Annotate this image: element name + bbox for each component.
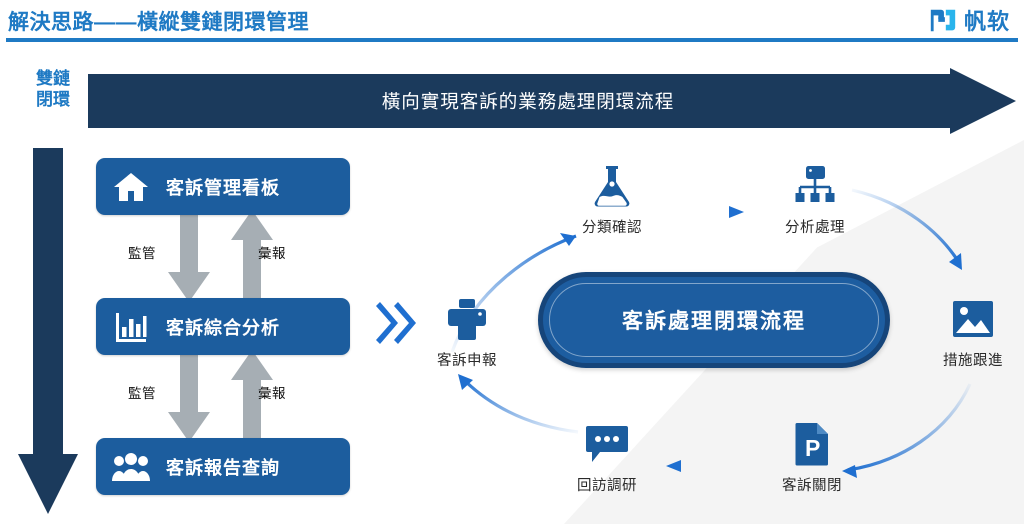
hierarchy-icon xyxy=(760,160,870,212)
chat-bubble-icon xyxy=(552,418,662,470)
platform-card-label: 客訴報告查詢 xyxy=(166,454,280,480)
flask-icon xyxy=(557,160,667,212)
horizontal-banner-arrow: 橫向實現客訴的業務處理閉環流程 xyxy=(88,68,1016,134)
cycle-arrow-5 xyxy=(666,460,752,472)
platform-card-report-query[interactable]: 客訴報告查詢 xyxy=(96,438,350,495)
svg-text:P: P xyxy=(805,435,820,461)
platform-card-analysis[interactable]: 客訴綜合分析 xyxy=(96,298,350,355)
cycle-node-followup-survey[interactable]: 回訪調研 xyxy=(552,418,662,495)
image-icon xyxy=(918,293,1024,345)
platform-card-label: 客訴綜合分析 xyxy=(166,314,280,340)
people-icon-shape xyxy=(111,452,151,482)
image-icon-shape xyxy=(951,300,995,338)
cycle-node-classify-confirm[interactable]: 分類確認 xyxy=(557,160,667,237)
cycle-node-label: 客訴申報 xyxy=(412,349,522,370)
document-p-icon-shape: P xyxy=(794,422,830,466)
flask-icon-shape xyxy=(593,164,631,208)
slide-canvas: 解決思路——橫縱雙鏈閉環管理 帆软 雙鏈 閉環 縱向搭建客訴的綜合管理平臺 橫向… xyxy=(0,0,1024,524)
cycle-hub: 客訴處理閉環流程 xyxy=(538,272,890,368)
horizontal-banner-label: 橫向實現客訴的業務處理閉環流程 xyxy=(88,68,968,134)
cycle-node-label: 回訪調研 xyxy=(552,474,662,495)
printer-icon xyxy=(412,293,522,345)
cycle-node-label: 分類確認 xyxy=(557,216,667,237)
home-icon xyxy=(96,171,166,203)
page-title: 解決思路——橫縱雙鏈閉環管理 xyxy=(8,6,309,36)
cycle-node-measure-followup[interactable]: 措施跟進 xyxy=(918,293,1024,370)
brand-name: 帆软 xyxy=(964,4,1010,36)
dual-chain-badge-line2: 閉環 xyxy=(22,89,84,110)
vertical-axis-arrow: 縱向搭建客訴的綜合管理平臺 xyxy=(18,148,78,514)
cycle-node-complaint-close[interactable]: P 客訴關閉 xyxy=(757,418,867,495)
cycle-node-label: 客訴關閉 xyxy=(757,474,867,495)
printer-icon-shape xyxy=(444,297,490,341)
cycle-node-complaint-submit[interactable]: 客訴申報 xyxy=(412,293,522,370)
flow-label-supervise-top: 監管 xyxy=(128,242,156,262)
dual-chain-badge: 雙鏈 閉環 xyxy=(22,68,84,111)
cycle-arrow-2 xyxy=(658,206,744,218)
flow-label-report-top: 彙報 xyxy=(258,242,286,262)
flow-label-report-bottom: 彙報 xyxy=(258,382,286,402)
cycle-node-label: 措施跟進 xyxy=(918,349,1024,370)
bar-chart-icon xyxy=(96,311,166,343)
people-icon xyxy=(96,452,166,482)
document-p-icon: P xyxy=(757,418,867,470)
home-icon-shape xyxy=(113,171,149,203)
cycle-hub-label: 客訴處理閉環流程 xyxy=(622,305,806,335)
vertical-arrow-label: 縱向搭建客訴的綜合管理平臺 xyxy=(18,148,78,458)
brand-logo: 帆软 xyxy=(928,4,1010,36)
platform-card-dashboard[interactable]: 客訴管理看板 xyxy=(96,158,350,215)
chat-bubble-icon-shape xyxy=(584,424,630,464)
bar-chart-icon-shape xyxy=(114,311,148,343)
fanruan-logo-icon xyxy=(928,5,958,35)
cycle-node-analyze-process[interactable]: 分析處理 xyxy=(760,160,870,237)
hierarchy-icon-shape xyxy=(792,164,838,208)
cycle-node-label: 分析處理 xyxy=(760,216,870,237)
flow-label-supervise-bottom: 監管 xyxy=(128,382,156,402)
title-divider xyxy=(6,38,1018,42)
platform-card-label: 客訴管理看板 xyxy=(166,174,280,200)
dual-chain-badge-line1: 雙鏈 xyxy=(22,68,84,89)
